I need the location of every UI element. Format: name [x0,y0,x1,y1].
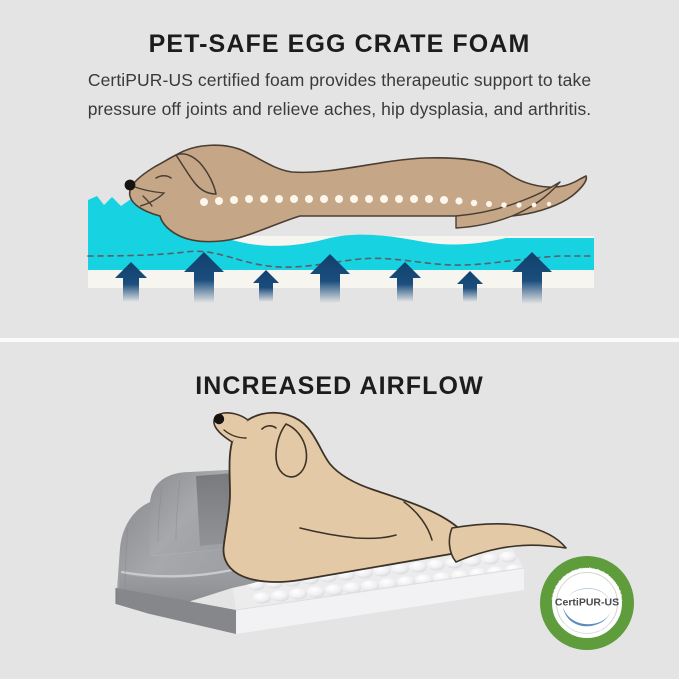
panel-pet-safe-foam: PET-SAFE EGG CRATE FOAM CertiPUR-US cert… [0,0,679,338]
badge-brand-text: CertiPUR-US [555,597,619,609]
certipur-us-badge: CONTAINS CERTIFIED FLEXIBLE POLYURETHANE… [545,561,629,645]
badge-trademark-symbol: ® [616,597,619,602]
page-title-bottom: INCREASED AIRFLOW [0,372,679,401]
dog-nose-icon [125,180,136,191]
dog-illustration-side [125,145,587,241]
dog-nose-icon-2 [214,414,224,424]
panel-increased-airflow: CONTAINS CERTIFIED FLEXIBLE POLYURETHANE… [0,342,679,679]
foam-cross-section-illustration [0,0,679,338]
